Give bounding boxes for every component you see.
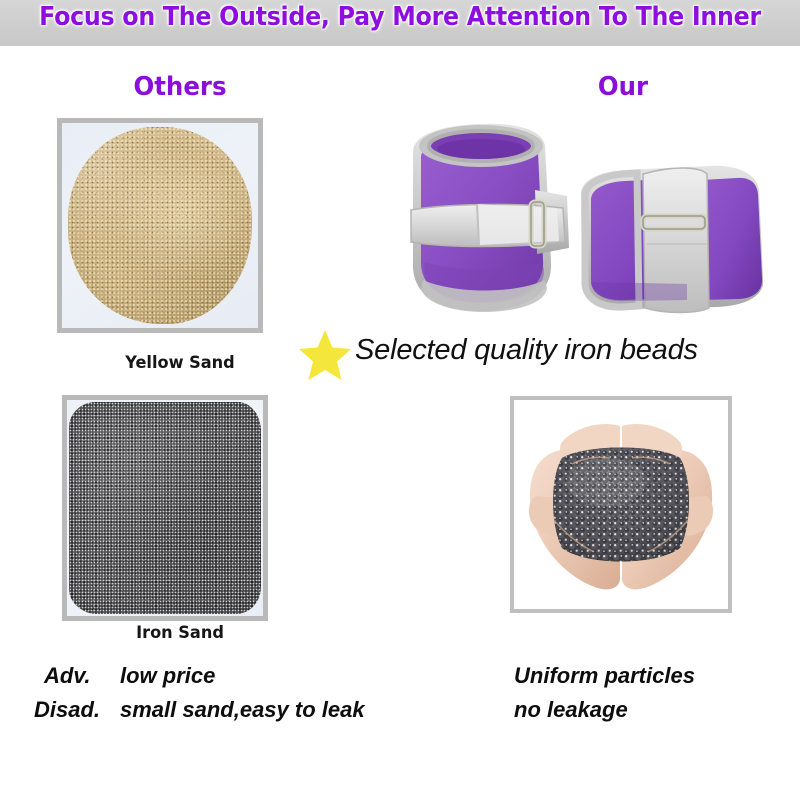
disad-label: Disad. <box>34 697 100 723</box>
star-glyph <box>297 327 353 383</box>
iron-sand-pile <box>69 402 261 614</box>
adv-label: Adv. <box>44 663 90 689</box>
disad-value: small sand,easy to leak <box>120 697 365 723</box>
infographic-page: Focus on The Outside, Pay More Attention… <box>0 0 800 800</box>
iron-beads-photo-frame <box>510 396 732 613</box>
iron-sand-caption: Iron Sand <box>85 623 275 643</box>
adv-value: low price <box>120 663 215 689</box>
hands-holding-beads-photo <box>514 400 728 609</box>
header-banner: Focus on The Outside, Pay More Attention… <box>0 0 800 46</box>
ankle-weights-illustration <box>385 112 780 327</box>
tagline-text: Selected quality iron beads <box>355 334 698 367</box>
star-icon <box>297 327 353 383</box>
hands-beads-illustration <box>514 400 728 609</box>
ankle-weights-photo <box>385 112 780 327</box>
column-heading-others: Others <box>105 72 255 102</box>
banner-title: Focus on The Outside, Pay More Attention… <box>28 2 772 32</box>
yellow-sand-pile <box>68 127 252 324</box>
our-benefit-line-1: Uniform particles <box>514 663 695 689</box>
iron-sand-grain-texture <box>69 402 261 614</box>
ankle-weight-left <box>411 124 569 312</box>
column-heading-our: Our <box>548 72 698 102</box>
iron-sand-photo <box>67 400 263 616</box>
yellow-sand-photo-frame <box>57 118 263 333</box>
yellow-sand-grain-texture <box>68 127 252 324</box>
ankle-weight-right <box>581 166 763 313</box>
our-benefit-line-2: no leakage <box>514 697 628 723</box>
iron-sand-photo-frame <box>62 395 268 621</box>
yellow-sand-photo <box>62 123 258 328</box>
yellow-sand-caption: Yellow Sand <box>85 353 275 373</box>
